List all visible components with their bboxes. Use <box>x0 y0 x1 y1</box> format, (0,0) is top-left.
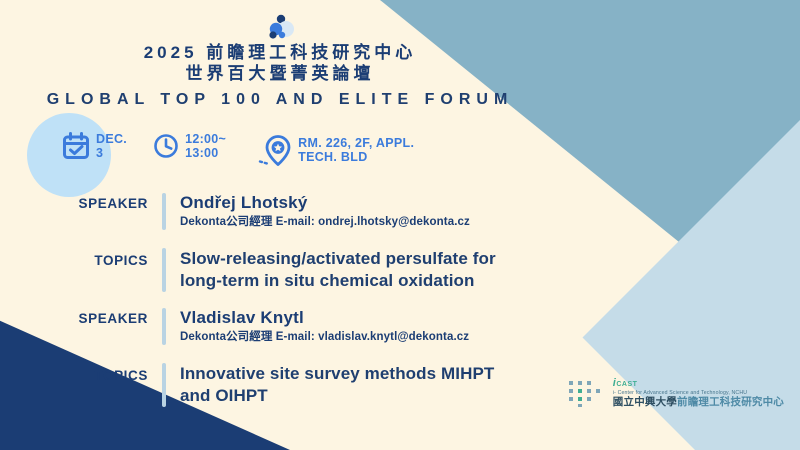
entry-divider-bar <box>162 308 166 345</box>
title-english: GLOBAL TOP 100 AND ELITE FORUM <box>0 88 560 112</box>
entry-label: SPEAKER <box>70 193 162 211</box>
topic-line1: Innovative site survey methods MIHPT <box>180 363 630 385</box>
topic-line2: long-term in situ chemical oxidation <box>180 270 630 292</box>
entry-topics-1: TOPICS Slow-releasing/activated persulfa… <box>70 248 630 292</box>
event-date-line2: 3 <box>96 146 127 160</box>
event-poster: 2025 前瞻理工科技研究中心 世界百大暨菁英論壇 GLOBAL TOP 100… <box>0 0 800 450</box>
dot-grid-icon <box>566 378 608 408</box>
entry-body: Ondřej Lhotský Dekonta公司經理 E-mail: ondre… <box>180 193 630 230</box>
map-pin-star-icon <box>258 134 292 168</box>
program-entries: SPEAKER Ondřej Lhotský Dekonta公司經理 E-mai… <box>70 193 630 423</box>
topic-line1: Slow-releasing/activated persulfate for <box>180 248 630 270</box>
molecule-icon <box>265 14 295 40</box>
speaker-name: Vladislav Knytl <box>180 308 630 328</box>
entry-speaker-1: SPEAKER Ondřej Lhotský Dekonta公司經理 E-mai… <box>70 193 630 230</box>
event-time-line2: 13:00 <box>185 146 226 160</box>
entry-body: Innovative site survey methods MIHPT and… <box>180 363 630 407</box>
event-location-text: RM. 226, 2F, APPL. TECH. BLD <box>298 136 414 164</box>
icast-name-university: 國立中興大學 <box>613 396 677 408</box>
entry-divider-bar <box>162 248 166 292</box>
event-date-line1: DEC. <box>96 132 127 146</box>
event-location-line1: RM. 226, 2F, APPL. <box>298 136 414 150</box>
event-time-text: 12:00~ 13:00 <box>185 132 226 160</box>
event-time: 12:00~ 13:00 <box>153 132 226 160</box>
entry-body: Slow-releasing/activated persulfate for … <box>180 248 630 292</box>
speaker-affiliation: Dekonta公司經理 E-mail: ondrej.lhotsky@dekon… <box>180 215 630 230</box>
topic-line2: and OIHPT <box>180 385 630 407</box>
event-meta-row: DEC. 3 12:00~ 13:00 RM. <box>62 132 414 168</box>
icast-wordmark: iCAST <box>613 378 784 389</box>
icast-logo-text: iCAST i- Center for Advanced Science and… <box>613 378 784 408</box>
icast-logo: iCAST i- Center for Advanced Science and… <box>566 378 784 408</box>
speaker-affiliation: Dekonta公司經理 E-mail: vladislav.knytl@deko… <box>180 330 630 345</box>
event-location-line2: TECH. BLD <box>298 150 414 164</box>
icast-name-center: 前瞻理工科技研究中心 <box>677 396 784 408</box>
entry-topics-2: TOPICS Innovative site survey methods MI… <box>70 363 630 407</box>
entry-label: SPEAKER <box>70 308 162 326</box>
poster-header: 2025 前瞻理工科技研究中心 世界百大暨菁英論壇 GLOBAL TOP 100… <box>0 14 560 112</box>
entry-label: TOPICS <box>70 363 162 383</box>
icast-mark-cast: CAST <box>616 381 637 388</box>
clock-icon <box>153 133 179 159</box>
entry-body: Vladislav Knytl Dekonta公司經理 E-mail: vlad… <box>180 308 630 345</box>
entry-divider-bar <box>162 193 166 230</box>
event-date: DEC. 3 <box>62 132 127 160</box>
entry-speaker-2: SPEAKER Vladislav Knytl Dekonta公司經理 E-ma… <box>70 308 630 345</box>
entry-label: TOPICS <box>70 248 162 268</box>
speaker-name: Ondřej Lhotský <box>180 193 630 213</box>
entry-divider-bar <box>162 363 166 407</box>
title-chinese-line2: 世界百大暨菁英論壇 <box>0 63 560 85</box>
event-date-text: DEC. 3 <box>96 132 127 160</box>
event-location: RM. 226, 2F, APPL. TECH. BLD <box>258 132 414 168</box>
calendar-check-icon <box>62 132 90 160</box>
icast-name-chinese: 國立中興大學前瞻理工科技研究中心 <box>613 397 784 408</box>
title-chinese-line1: 2025 前瞻理工科技研究中心 <box>0 42 560 63</box>
event-time-line1: 12:00~ <box>185 132 226 146</box>
